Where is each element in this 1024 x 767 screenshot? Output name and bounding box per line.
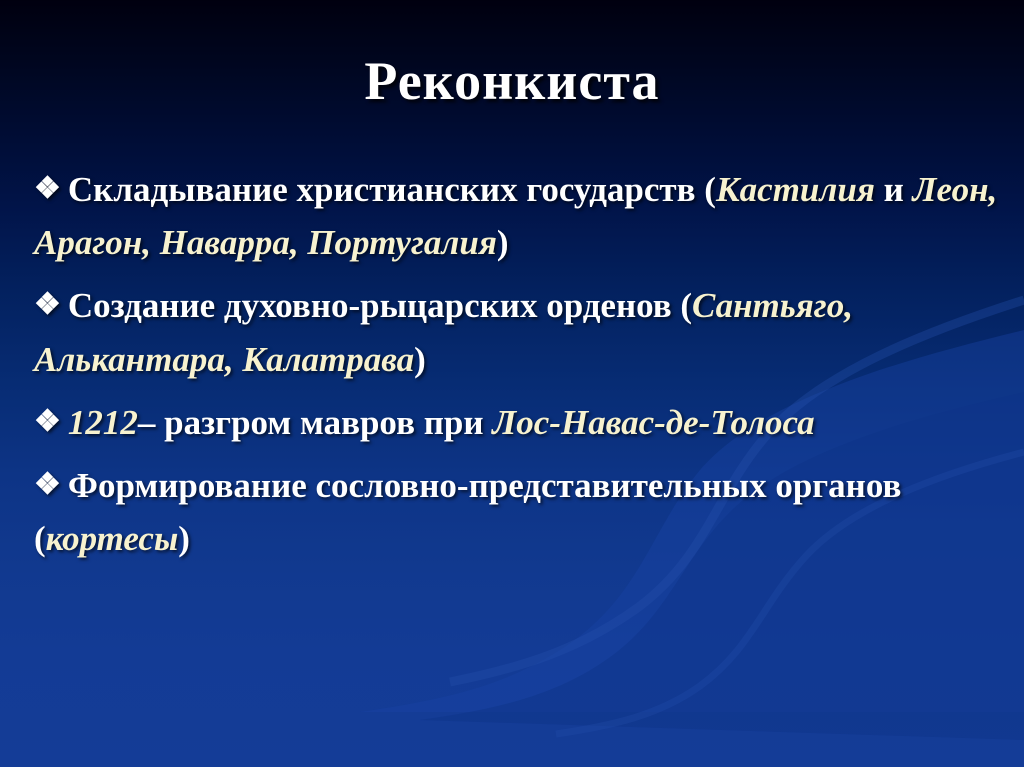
run-emphasis: кортесы	[46, 519, 179, 558]
bullet-item-1-text: Складывание христианских государств (Кас…	[34, 170, 997, 262]
slide-body-list: ❖Складывание христианских государств (Ка…	[34, 163, 999, 575]
run-paren-close: )	[497, 223, 509, 262]
diamond-bullet-icon: ❖	[34, 462, 61, 508]
slide-title: Реконкиста	[0, 52, 1024, 111]
run-paren-close: )	[414, 340, 426, 379]
bullet-item-3-text: 1212– разгром мавров при Лос-Навас-де-То…	[68, 403, 815, 442]
run-paren-open: (	[34, 519, 46, 558]
bullet-item-3: ❖1212– разгром мавров при Лос-Навас-де-Т…	[34, 396, 999, 449]
run-year-emphasis: 1212	[68, 403, 138, 442]
bullet-item-1: ❖Складывание христианских государств (Ка…	[34, 163, 999, 269]
bullet-item-2: ❖Создание духовно-рыцарских орденов (Сан…	[34, 279, 999, 385]
run-plain: Создание духовно-рыцарских орденов	[68, 286, 680, 325]
presentation-slide: Реконкиста ❖Складывание христианских гос…	[0, 0, 1024, 767]
diamond-bullet-icon: ❖	[34, 399, 61, 445]
run-paren-open: (	[704, 170, 716, 209]
bullet-item-4-text: Формирование сословно-представительных о…	[34, 466, 901, 558]
diamond-bullet-icon: ❖	[34, 166, 61, 212]
run-plain: и	[875, 170, 913, 209]
run-plain: Складывание христианских государств	[68, 170, 704, 209]
diamond-bullet-icon: ❖	[34, 282, 61, 328]
run-paren-close: )	[178, 519, 190, 558]
bullet-item-2-text: Создание духовно-рыцарских орденов (Сант…	[34, 286, 853, 378]
run-emphasis: Лос-Навас-де-Толоса	[492, 403, 814, 442]
run-emphasis: Кастилия	[716, 170, 875, 209]
bullet-item-4: ❖Формирование сословно-представительных …	[34, 459, 999, 565]
run-plain: – разгром мавров при	[138, 403, 492, 442]
run-paren-open: (	[680, 286, 692, 325]
run-plain: Формирование сословно-представительных о…	[68, 466, 901, 505]
